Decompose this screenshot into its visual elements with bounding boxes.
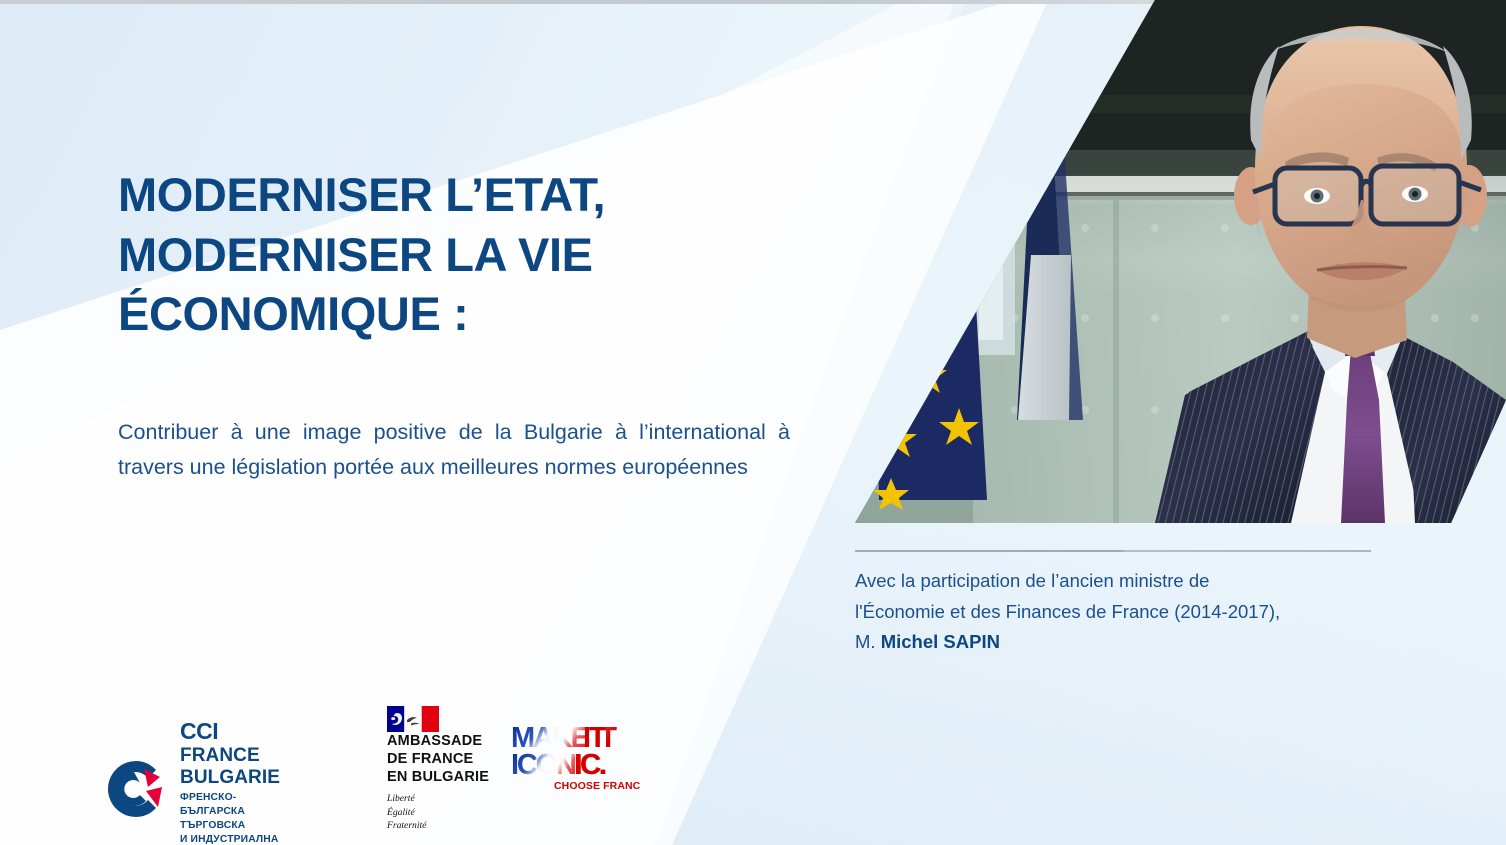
cci-wordmark: CCI FRANCE BULGARIE ФРЕНСКО-БЪЛГАРСКА ТЪ… [180, 718, 280, 845]
cci-subtitle-bg: ФРЕНСКО-БЪЛГАРСКА ТЪРГОВСКА И ИНДУСТРИАЛ… [180, 791, 280, 845]
cci-mark-icon [104, 757, 168, 821]
speaker-caption: Avec la participation de l’ancien minist… [855, 566, 1395, 658]
presentation-slide: MODERNISER L’ETAT, MODERNISER LA VIE ÉCO… [0, 0, 1506, 845]
make-it-iconic-logo[interactable]: MAKE IT ICONIC. IT IC. CHOOSE FRANCE [510, 718, 640, 796]
marianne-flag-icon [387, 706, 439, 732]
caption-line-2: l'Économie et des Finances de France (20… [855, 601, 1280, 622]
caption-divider [855, 550, 1371, 552]
cci-abbr: CCI [180, 718, 218, 744]
cci-france-bulgarie-logo[interactable]: CCI FRANCE BULGARIE ФРЕНСКО-БЪЛГАРСКА ТЪ… [104, 718, 280, 845]
svg-text:IC.: IC. [574, 749, 606, 781]
mii-tagline-text: CHOOSE FRANCE [554, 780, 640, 792]
cci-title: CCI FRANCE BULGARIE [180, 723, 280, 788]
ambassade-motto: Liberté Égalité Fraternité [387, 792, 495, 832]
slide-subtitle: Contribuer à une image positive de la Bu… [118, 415, 790, 485]
speaker-name: Michel SAPIN [881, 631, 1000, 652]
caption-line-1: Avec la participation de l’ancien minist… [855, 570, 1209, 591]
caption-line-3-prefix: M. [855, 631, 881, 652]
ambassade-de-france-logo[interactable]: AMBASSADE DE FRANCE EN BULGARIE Liberté … [387, 706, 495, 832]
slide-title: MODERNISER L’ETAT, MODERNISER LA VIE ÉCO… [118, 165, 818, 344]
cci-title-rest: FRANCE BULGARIE [180, 745, 280, 788]
ambassade-title: AMBASSADE DE FRANCE EN BULGARIE [387, 733, 489, 785]
